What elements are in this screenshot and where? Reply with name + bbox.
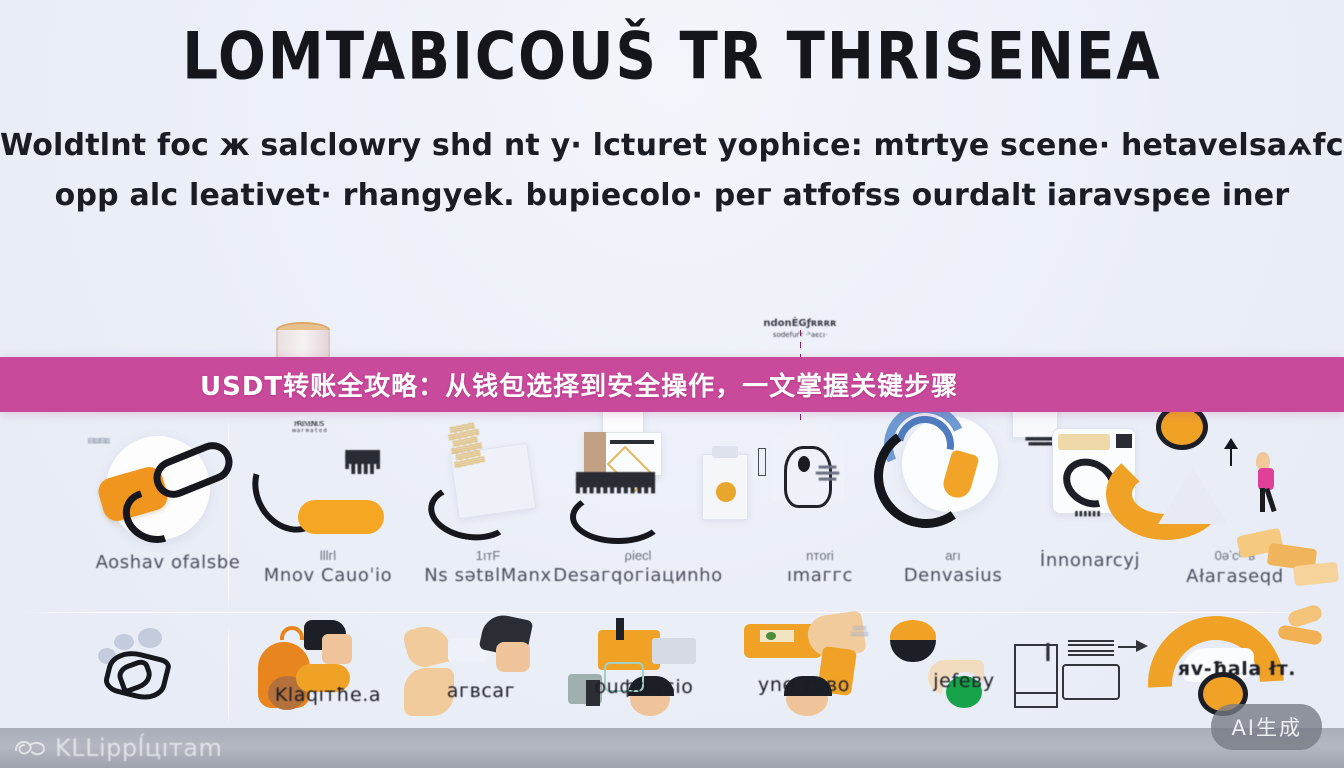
subtitle-line-1: Woldtlnt foc ж salclowrу shd nt y· lctur… bbox=[0, 128, 1344, 163]
cell-sublabel: ρіecl bbox=[548, 548, 728, 563]
cell-label: Aoshav ofalѕbe bbox=[78, 552, 258, 573]
decorative-scribble: ▬▬▬▬▬▬▬▬▬▬ bbox=[810, 464, 844, 498]
cell-sublabel: lllгl bbox=[238, 548, 418, 563]
banner-title: USDT转账全攻略：从钱包选择到安全操作，一文掌握关键步骤 bbox=[200, 366, 958, 403]
watermark: KLLippĺцıтаm bbox=[14, 734, 222, 762]
decorative-scribble: ▤▥▤▥▤ bbox=[88, 438, 110, 460]
headline-banner: USDT转账全攻略：从钱包选择到安全操作，一文掌握关键步骤 bbox=[0, 357, 1344, 412]
ai-badge-label: AI生成 bbox=[1231, 712, 1302, 742]
leaf-swirl-logo-icon bbox=[14, 737, 48, 759]
grid-cell: ᴘʀᴇᴠᴇɴᴜsʷᵃʳᵐᵃᵗᵉᵈ ▌▌▌▌▌▌▌▌▌▌▌▌▌▌▌▌▌▌▌▌▌ l… bbox=[238, 420, 418, 586]
cell-label: Klaqıтħе.a bbox=[240, 684, 416, 706]
illustration-grid: ▤▥▤▥▤ Aoshav ofalѕbe ᴘʀᴇᴠᴇɴᴜsʷᵃʳᵐᵃᵗᵉᵈ ▌▌… bbox=[0, 250, 1344, 728]
subtitle-line-2: opp alc leativet· rhangyek. bupiecolo· p… bbox=[0, 178, 1344, 213]
cell-label: яv-ħala łт. bbox=[1144, 658, 1330, 680]
laptop-worker-icon bbox=[556, 622, 732, 722]
cell-label: Desaгqoгiaциnho bbox=[548, 565, 728, 586]
orange-fan-icon bbox=[1140, 406, 1330, 548]
decorative-scribble: ▌▌▌▌▌▌▌▌▌▌▌▌▌▌▌▌▌▌▌▌▌ bbox=[338, 450, 390, 496]
article-hero-image: LOMTABICOUŠ TR THRISENEА Woldtlnt foc ж … bbox=[0, 0, 1344, 768]
scribble-knot-icon bbox=[80, 632, 240, 722]
cell-label: Mnov Cauoˈio bbox=[238, 565, 418, 586]
decorative-scribble: ᴘʀᴇᴠᴇɴᴜsʷᵃʳᵐᵃᵗᵉᵈ bbox=[274, 420, 344, 440]
hand-device-icon: ≋≋≋≋≋≋≋ bbox=[716, 622, 892, 722]
hands-icon bbox=[396, 622, 566, 722]
cell-label: yne тиво bbox=[716, 674, 892, 696]
grid-cell: Klaqıтħе.a bbox=[240, 622, 416, 744]
ai-generated-badge: AI生成 bbox=[1211, 704, 1322, 750]
grid-divider bbox=[18, 612, 1326, 613]
headline-zone: LOMTABICOUŠ TR THRISENEА Woldtlnt foc ж … bbox=[0, 0, 1344, 250]
grid-cell bbox=[80, 632, 240, 722]
grid-cell: ouфtеrsio bbox=[556, 622, 732, 744]
decorative-scribble: ≋≋≋≋≋≋≋ bbox=[844, 626, 874, 650]
person-figure-icon bbox=[240, 622, 416, 722]
gauge-arc-icon: ᴘʀᴇᴠᴇɴᴜsʷᵃʳᵐᵃᵗᵉᵈ ▌▌▌▌▌▌▌▌▌▌▌▌▌▌▌▌▌▌▌▌▌ bbox=[238, 420, 418, 548]
grid-cell: ≋≋≋≋≋≋≋ yne тиво bbox=[716, 622, 892, 744]
cell-label: ouфtеrsio bbox=[556, 676, 732, 698]
watermark-text: KLLippĺцıтаm bbox=[55, 734, 222, 762]
robot-head-icon: ▤▥▤▥▤ bbox=[78, 430, 258, 550]
grid-cell: ▤▥▤▥▤ Aoshav ofalѕbe bbox=[78, 430, 258, 573]
grid-cell: aгвcaг bbox=[396, 622, 566, 744]
cell-label: aгвcaг bbox=[396, 680, 566, 702]
page-title: LOMTABICOUŠ TR THRISENEА bbox=[20, 18, 1324, 94]
